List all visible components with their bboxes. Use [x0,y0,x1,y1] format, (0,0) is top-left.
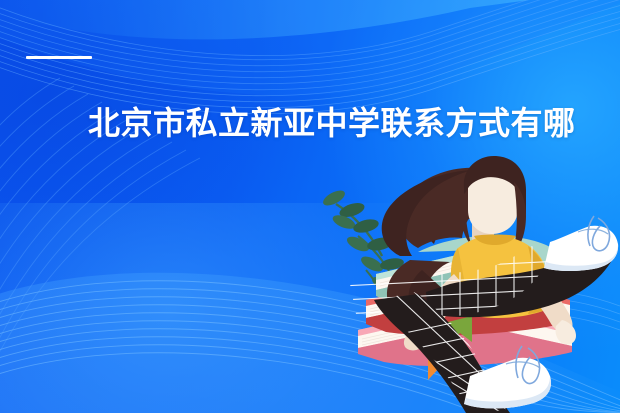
accent-rule [26,56,92,59]
article-banner: 北京市私立新亚中学联系方式有哪 [0,0,620,413]
shoe-upper [544,216,618,271]
hero-illustration [322,152,620,413]
page-title: 北京市私立新亚中学联系方式有哪 [88,104,588,142]
